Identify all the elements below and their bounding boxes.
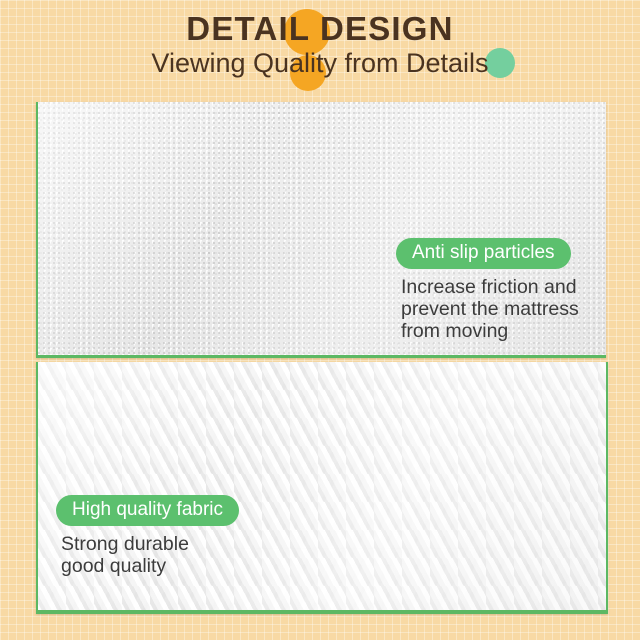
callout-high-quality: High quality fabric Strong durable good … bbox=[56, 495, 239, 578]
badge-high-quality-fabric: High quality fabric bbox=[56, 495, 239, 526]
page-title: DETAIL DESIGN bbox=[0, 10, 640, 48]
header: DETAIL DESIGN Viewing Quality from Detai… bbox=[0, 0, 640, 100]
description-high-quality: Strong durable good quality bbox=[61, 534, 239, 578]
page-subtitle: Viewing Quality from Details bbox=[0, 48, 640, 79]
callout-anti-slip: Anti slip particles Increase friction an… bbox=[396, 238, 579, 342]
description-anti-slip: Increase friction and prevent the mattre… bbox=[401, 277, 579, 342]
badge-anti-slip-particles: Anti slip particles bbox=[396, 238, 571, 269]
